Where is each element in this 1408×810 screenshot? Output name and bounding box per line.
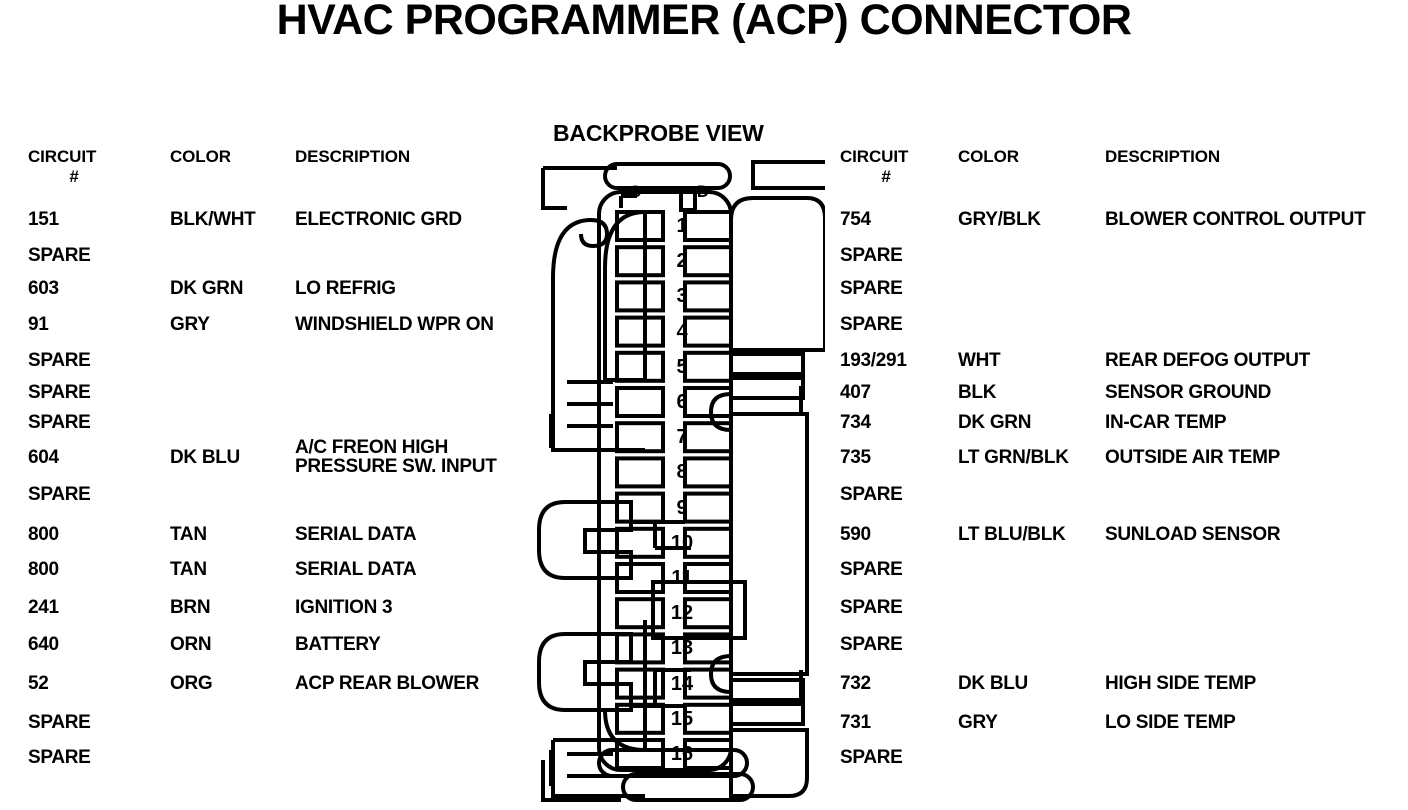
table-row: 754GRY/BLKBLOWER CONTROL OUTPUT: [840, 210, 1400, 232]
right-header-color: COLOR: [958, 148, 1019, 165]
right-circuit: SPARE: [840, 485, 903, 505]
table-row: 91GRYWINDSHIELD WPR ON: [10, 315, 550, 337]
pin-number-5: 5: [665, 357, 699, 377]
right-description: LO SIDE TEMP: [1105, 713, 1235, 733]
right-rib-lower-1: [731, 680, 803, 700]
table-row: SPARE: [840, 560, 1400, 582]
right-circuit: 590: [840, 525, 871, 545]
left-circuit: 800: [28, 560, 59, 580]
right-circuit: 731: [840, 713, 871, 733]
right-description: SENSOR GROUND: [1105, 383, 1271, 403]
right-color: GRY: [958, 713, 998, 733]
right-circuit: 407: [840, 383, 871, 403]
left-circuit: 604: [28, 448, 59, 468]
connector-drawing: 12345678910111213141516CD: [495, 150, 825, 810]
right-circuit: SPARE: [840, 246, 903, 266]
right-header-circuit: CIRCUIT #: [840, 148, 932, 185]
left-description: SERIAL DATA: [295, 560, 416, 580]
left-header-circuit: CIRCUIT #: [28, 148, 120, 185]
table-row: 735LT GRN/BLKOUTSIDE AIR TEMP: [840, 448, 1400, 470]
left-circuit: 52: [28, 674, 49, 694]
right-circuit: SPARE: [840, 315, 903, 335]
left-description: ACP REAR BLOWER: [295, 674, 479, 694]
pin-number-15: 15: [665, 709, 699, 729]
table-row: SPARE: [10, 713, 550, 735]
left-description-line1: A/C FREON HIGH: [295, 438, 497, 457]
table-row: SPARE: [10, 748, 550, 770]
pin-number-2: 2: [665, 251, 699, 271]
left-description: WINDSHIELD WPR ON: [295, 315, 494, 335]
right-rib-lower-2: [731, 704, 803, 724]
right-circuit: 754: [840, 210, 871, 230]
table-row: SPARE: [840, 246, 1400, 268]
top-left-hook: [581, 220, 607, 246]
left-circuit: 640: [28, 635, 59, 655]
table-row: 52ORGACP REAR BLOWER: [10, 674, 550, 696]
table-row: 732DK BLUHIGH SIDE TEMP: [840, 674, 1400, 696]
table-row: 731GRYLO SIDE TEMP: [840, 713, 1400, 735]
right-circuit: SPARE: [840, 598, 903, 618]
right-circuit: 734: [840, 413, 871, 433]
left-circuit: 91: [28, 315, 49, 335]
pin-cavity-C4[interactable]: [617, 318, 663, 346]
left-circuit: SPARE: [28, 246, 91, 266]
table-row: 800TANSERIAL DATA: [10, 525, 550, 547]
right-upper-panel: [731, 198, 825, 350]
pin-cavity-C3[interactable]: [617, 282, 663, 310]
page-title: HVAC PROGRAMMER (ACP) CONNECTOR: [0, 0, 1408, 45]
left-header-description: DESCRIPTION: [295, 148, 410, 165]
right-color: BLK: [958, 383, 996, 403]
right-color: DK GRN: [958, 413, 1031, 433]
table-row: SPARE: [10, 246, 550, 268]
table-row: SPARE: [840, 635, 1400, 657]
right-main-panel: [731, 414, 807, 674]
right-description: REAR DEFOG OUTPUT: [1105, 351, 1310, 371]
right-circuit: 193/291: [840, 351, 907, 371]
table-row: SPARE: [840, 485, 1400, 507]
table-row: SPARE: [840, 279, 1400, 301]
right-circuit: SPARE: [840, 748, 903, 768]
pin-number-14: 14: [665, 674, 699, 694]
left-color: DK BLU: [170, 448, 240, 468]
pin-number-1: 1: [665, 216, 699, 236]
left-color: TAN: [170, 560, 207, 580]
right-color: LT GRN/BLK: [958, 448, 1069, 468]
left-color: ORG: [170, 674, 212, 694]
table-row: SPARE: [840, 315, 1400, 337]
pin-number-8: 8: [665, 462, 699, 482]
left-circuit: SPARE: [28, 485, 91, 505]
right-color: DK BLU: [958, 674, 1028, 694]
right-circuit: SPARE: [840, 635, 903, 655]
table-row: 800TANSERIAL DATA: [10, 560, 550, 582]
right-color: WHT: [958, 351, 1000, 371]
left-circuit: 241: [28, 598, 59, 618]
left-description: IGNITION 3: [295, 598, 392, 618]
pin-cavity-C8[interactable]: [617, 458, 663, 486]
table-row: 241BRNIGNITION 3: [10, 598, 550, 620]
table-row: SPARE: [10, 485, 550, 507]
table-row: 193/291WHTREAR DEFOG OUTPUT: [840, 351, 1400, 373]
pin-cavity-C5[interactable]: [617, 353, 663, 381]
backprobe-view-label: BACKPROBE VIEW: [553, 120, 764, 147]
right-description: IN-CAR TEMP: [1105, 413, 1226, 433]
upper-left-bracket: [543, 168, 567, 208]
connector-svg: [495, 150, 825, 810]
left-circuit: 800: [28, 525, 59, 545]
left-circuit: SPARE: [28, 383, 91, 403]
right-circuit: 732: [840, 674, 871, 694]
pin-number-3: 3: [665, 286, 699, 306]
left-description-line2: PRESSURE SW. INPUT: [295, 457, 497, 476]
left-header-color: COLOR: [170, 148, 231, 165]
pin-number-10: 10: [665, 533, 699, 553]
right-lower-panel: [731, 730, 807, 796]
pin-cavity-C12[interactable]: [617, 599, 663, 627]
left-circuit: SPARE: [28, 713, 91, 733]
right-description: HIGH SIDE TEMP: [1105, 674, 1256, 694]
table-row: 151BLK/WHTELECTRONIC GRD: [10, 210, 550, 232]
left-circuit: 151: [28, 210, 59, 230]
left-color: BRN: [170, 598, 210, 618]
left-circuit: SPARE: [28, 351, 91, 371]
pin-number-6: 6: [665, 392, 699, 412]
left-color: TAN: [170, 525, 207, 545]
pin-cavity-C7[interactable]: [617, 423, 663, 451]
left-description: ELECTRONIC GRD: [295, 210, 462, 230]
pin-number-16: 16: [665, 744, 699, 764]
right-rib-upper-2: [731, 378, 803, 398]
right-description: BLOWER CONTROL OUTPUT: [1105, 210, 1365, 230]
left-description: SERIAL DATA: [295, 525, 416, 545]
table-row: SPARE: [10, 383, 550, 405]
right-circuit: SPARE: [840, 560, 903, 580]
pin-cavity-C9[interactable]: [617, 494, 663, 522]
left-outer-curve: [553, 220, 591, 278]
table-row: 604DK BLUA/C FREON HIGHPRESSURE SW. INPU…: [10, 448, 550, 470]
table-row: 590LT BLU/BLKSUNLOAD SENSOR: [840, 525, 1400, 547]
right-header-description: DESCRIPTION: [1105, 148, 1220, 165]
column-label-D: D: [693, 182, 713, 202]
right-rib-upper-1: [731, 354, 803, 374]
pin-number-4: 4: [665, 322, 699, 342]
table-row: SPARE: [10, 351, 550, 373]
pin-number-11: 11: [665, 568, 699, 588]
right-description: SUNLOAD SENSOR: [1105, 525, 1280, 545]
left-circuit: SPARE: [28, 413, 91, 433]
pin-number-7: 7: [665, 427, 699, 447]
left-color: GRY: [170, 315, 210, 335]
column-label-C: C: [625, 182, 645, 202]
pin-cavity-C2[interactable]: [617, 247, 663, 275]
right-color: GRY/BLK: [958, 210, 1041, 230]
table-row: SPARE: [840, 598, 1400, 620]
left-circuit: 603: [28, 279, 59, 299]
right-description: OUTSIDE AIR TEMP: [1105, 448, 1280, 468]
pin-number-12: 12: [665, 603, 699, 623]
left-description: A/C FREON HIGHPRESSURE SW. INPUT: [295, 438, 497, 476]
pin-cavity-C6[interactable]: [617, 388, 663, 416]
pin-number-13: 13: [665, 638, 699, 658]
table-row: 407BLKSENSOR GROUND: [840, 383, 1400, 405]
left-color: ORN: [170, 635, 211, 655]
table-row: 734DK GRNIN-CAR TEMP: [840, 413, 1400, 435]
top-right-tab: [753, 162, 825, 188]
left-color: DK GRN: [170, 279, 243, 299]
left-circuit: SPARE: [28, 748, 91, 768]
pin-number-9: 9: [665, 498, 699, 518]
left-description: BATTERY: [295, 635, 381, 655]
right-circuit: SPARE: [840, 279, 903, 299]
table-row: SPARE: [840, 748, 1400, 770]
table-row: 640ORNBATTERY: [10, 635, 550, 657]
right-circuit: 735: [840, 448, 871, 468]
table-row: SPARE: [10, 413, 550, 435]
right-color: LT BLU/BLK: [958, 525, 1065, 545]
table-row: 603DK GRNLO REFRIG: [10, 279, 550, 301]
left-color: BLK/WHT: [170, 210, 256, 230]
left-description: LO REFRIG: [295, 279, 396, 299]
